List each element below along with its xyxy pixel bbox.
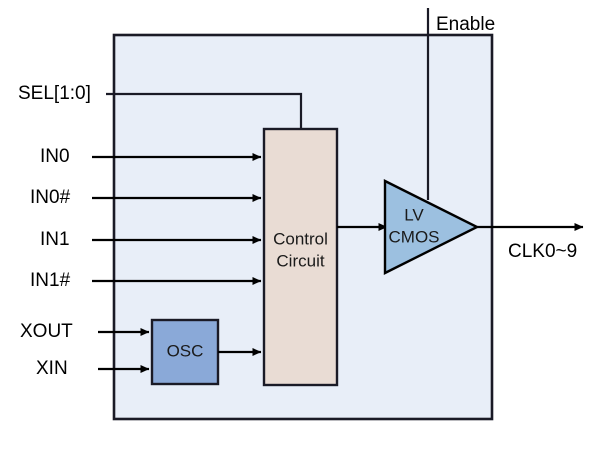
control-label-enable: Enable	[436, 14, 495, 35]
input-label-xout: XOUT	[20, 321, 73, 342]
input-label-in0: IN0	[40, 146, 70, 167]
clock-buffer-diagram: SEL[1:0] IN0 IN0# IN1 IN1# XOUT XIN OSC …	[0, 0, 602, 450]
output-label-clk: CLK0~9	[508, 241, 577, 262]
lv-cmos-label-line1: LV	[404, 205, 424, 224]
control-circuit-label-line1: Control	[273, 229, 328, 248]
osc-block-label: OSC	[167, 341, 204, 360]
control-circuit-label-line2: Circuit	[276, 251, 324, 270]
input-label-sel: SEL[1:0]	[18, 83, 91, 104]
input-label-in0n: IN0#	[30, 187, 71, 208]
lv-cmos-label-line2: CMOS	[389, 227, 440, 246]
input-label-xin: XIN	[36, 358, 68, 379]
block-diagram-canvas: SEL[1:0] IN0 IN0# IN1 IN1# XOUT XIN OSC …	[0, 0, 602, 450]
input-label-in1: IN1	[40, 229, 70, 250]
input-label-in1n: IN1#	[30, 270, 71, 291]
